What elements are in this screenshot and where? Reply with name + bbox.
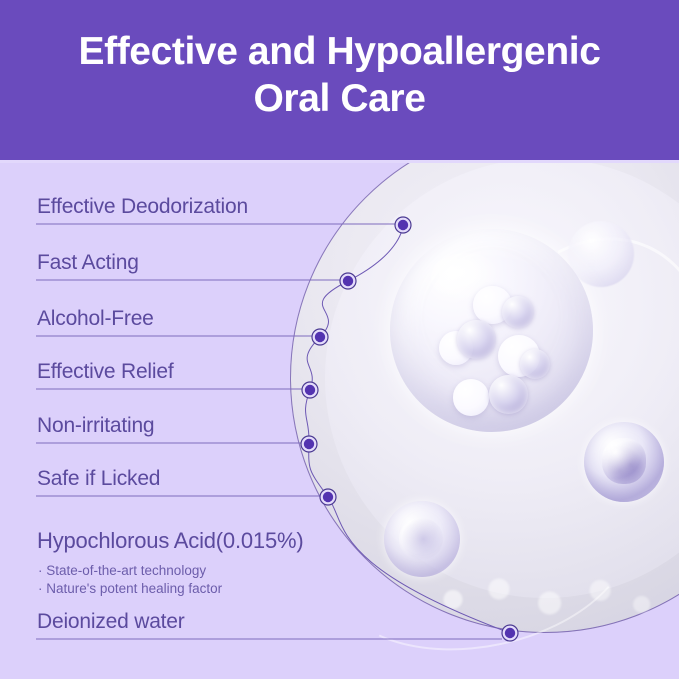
feature-row: Effective Deodorization (37, 195, 248, 219)
ingredient-bullet: · Nature's potent healing factor (38, 580, 222, 598)
feature-label: Non-irritating (37, 414, 154, 438)
ingredient-title: Hypochlorous Acid(0.015%) (37, 528, 303, 554)
ingredient-bullet: · State-of-the-art technology (38, 562, 206, 580)
feature-row: Safe if Licked (37, 467, 160, 491)
feature-label: Fast Acting (37, 251, 139, 275)
infographic-root: Effective and Hypoallergenic Oral Care (0, 0, 679, 679)
feature-label: Alcohol-Free (37, 307, 154, 331)
feature-label: Effective Deodorization (37, 195, 248, 219)
feature-label: Safe if Licked (37, 467, 160, 491)
feature-row: Effective Relief (37, 360, 173, 384)
final-ingredient-label: Deionized water (37, 610, 185, 634)
feature-row: Fast Acting (37, 251, 139, 275)
feature-row: Alcohol-Free (37, 307, 154, 331)
feature-label: Effective Relief (37, 360, 173, 384)
feature-list: Effective DeodorizationFast ActingAlcoho… (0, 0, 679, 679)
feature-row: Non-irritating (37, 414, 154, 438)
